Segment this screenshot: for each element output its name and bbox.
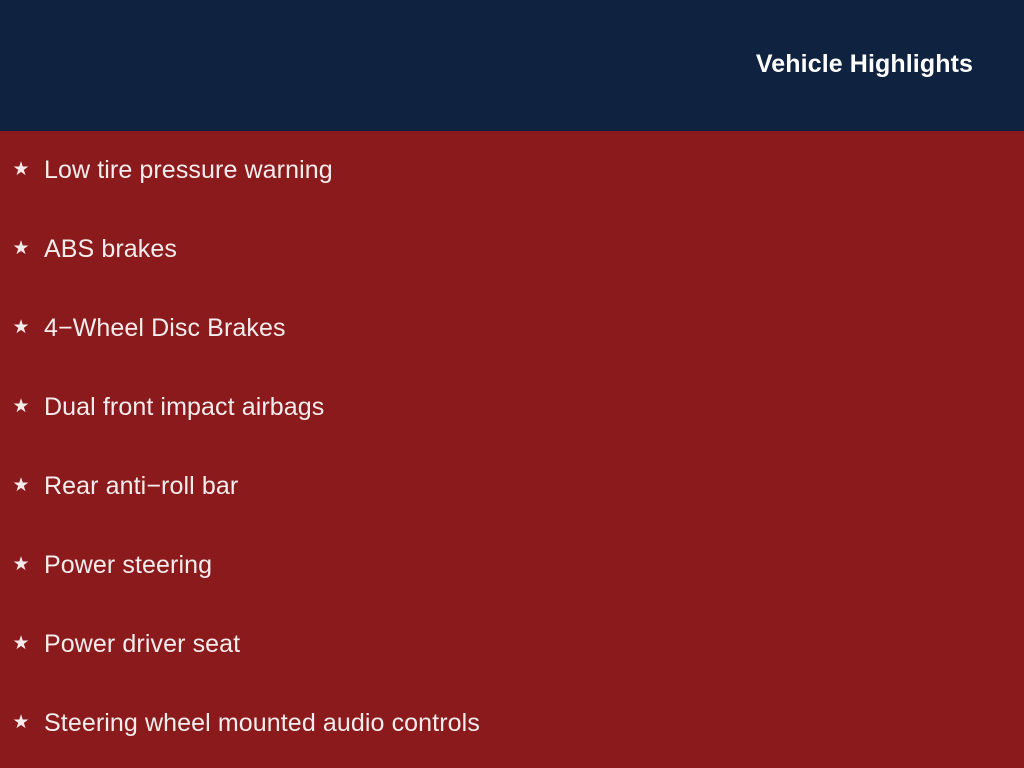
slide-header-band: Vehicle Highlights — [0, 0, 1024, 131]
star-bullet-icon: ★ — [6, 390, 36, 424]
slide-canvas: Vehicle Highlights ★ Low tire pressure w… — [0, 0, 1024, 768]
list-item[interactable]: ★ Low tire pressure warning — [0, 153, 1010, 187]
list-item[interactable]: ★ Power steering — [0, 548, 1010, 582]
list-item-label: Steering wheel mounted audio controls — [44, 706, 480, 740]
list-item[interactable]: ★ Power driver seat — [0, 627, 1010, 661]
list-item-label: Power steering — [44, 548, 212, 582]
list-item[interactable]: ★ ABS brakes — [0, 232, 1010, 266]
star-bullet-icon: ★ — [6, 469, 36, 503]
list-item[interactable]: ★ Steering wheel mounted audio controls — [0, 706, 1010, 740]
star-bullet-icon: ★ — [6, 232, 36, 266]
list-item[interactable]: ★ 4−Wheel Disc Brakes — [0, 311, 1010, 345]
star-bullet-icon: ★ — [6, 153, 36, 187]
star-bullet-icon: ★ — [6, 311, 36, 345]
star-bullet-icon: ★ — [6, 548, 36, 582]
page-title: Vehicle Highlights — [756, 47, 973, 81]
list-item-label: Power driver seat — [44, 627, 240, 661]
list-item-label: Rear anti−roll bar — [44, 469, 238, 503]
list-item-label: Low tire pressure warning — [44, 153, 333, 187]
list-item-label: 4−Wheel Disc Brakes — [44, 311, 286, 345]
star-bullet-icon: ★ — [6, 627, 36, 661]
star-bullet-icon: ★ — [6, 706, 36, 740]
list-item-label: ABS brakes — [44, 232, 177, 266]
list-item[interactable]: ★ Rear anti−roll bar — [0, 469, 1010, 503]
list-item[interactable]: ★ Dual front impact airbags — [0, 390, 1010, 424]
list-item-label: Dual front impact airbags — [44, 390, 324, 424]
slide-body: ★ Low tire pressure warning ★ ABS brakes… — [0, 131, 1024, 768]
